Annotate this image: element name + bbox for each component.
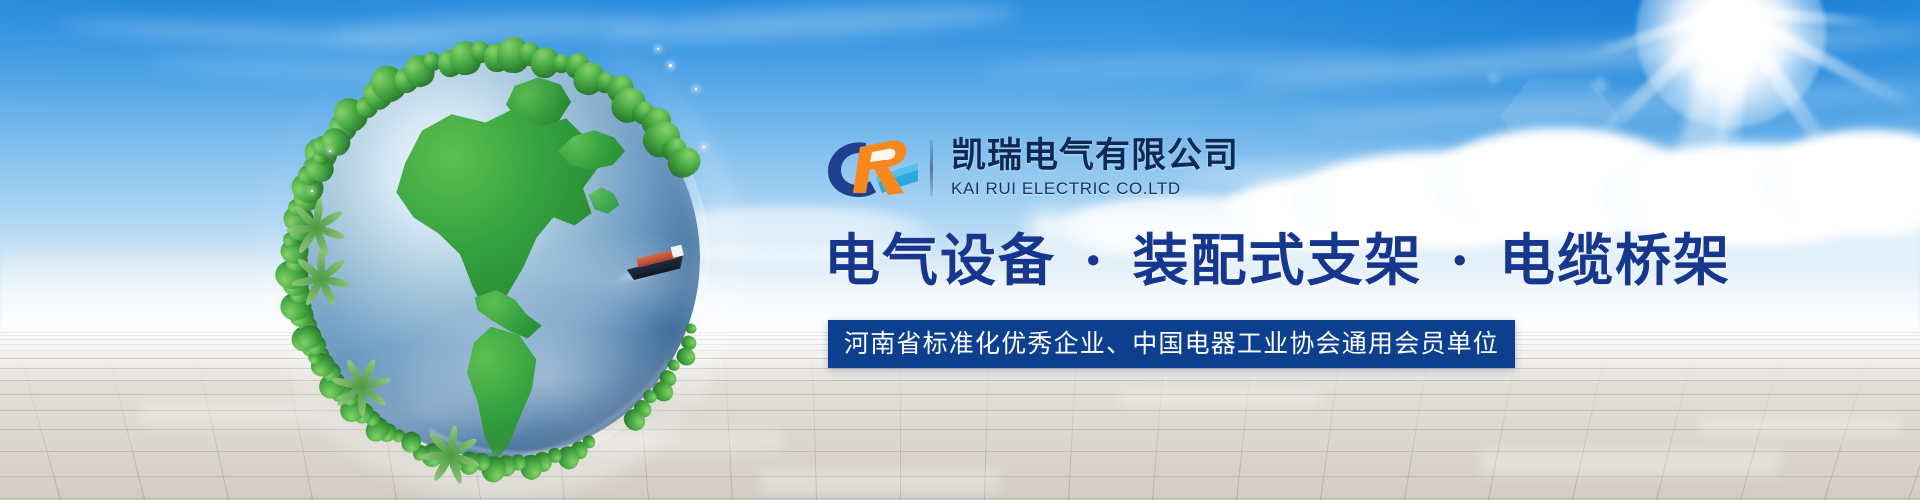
credentials-text: 河南省标准化优秀企业、中国电器工业协会通用会员单位 (844, 329, 1499, 359)
hero-banner: 凯瑞电气有限公司 KAI RUI ELECTRIC CO.LTD 电气设备 · … (0, 0, 1920, 500)
brand-lockup: 凯瑞电气有限公司 KAI RUI ELECTRIC CO.LTD (826, 136, 1239, 200)
banner-content: 凯瑞电气有限公司 KAI RUI ELECTRIC CO.LTD 电气设备 · … (0, 0, 1920, 500)
company-name-en: KAI RUI ELECTRIC CO.LTD (951, 178, 1239, 200)
headline-part-2: 装配式支架 (1133, 228, 1423, 294)
headline-separator: · (1078, 228, 1112, 294)
headline-part-1: 电气设备 (824, 228, 1056, 294)
page-title: 电气设备 · 装配式支架 · 电缆桥架 (824, 228, 1731, 294)
company-name-cn: 凯瑞电气有限公司 (951, 136, 1239, 176)
credentials-badge: 河南省标准化优秀企业、中国电器工业协会通用会员单位 (828, 320, 1515, 368)
headline-part-3: 电缆桥架 (1499, 228, 1731, 294)
brand-divider (930, 140, 933, 196)
cr-monogram-logo (826, 137, 922, 199)
brand-names: 凯瑞电气有限公司 KAI RUI ELECTRIC CO.LTD (951, 136, 1239, 200)
headline-separator: · (1444, 228, 1478, 294)
